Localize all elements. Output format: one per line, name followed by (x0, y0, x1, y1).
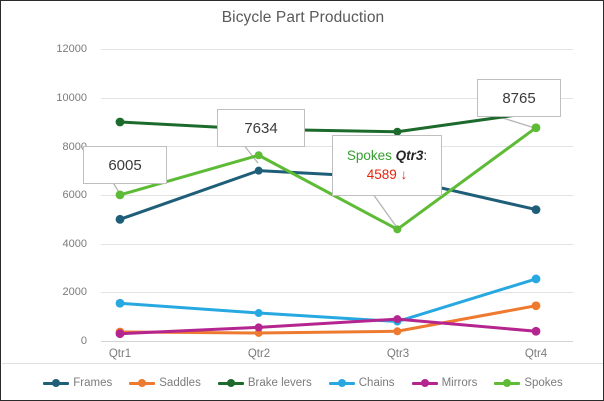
callout-value: 7634 (244, 120, 277, 137)
callout-series-name: Spokes (347, 148, 392, 163)
legend-swatch-icon (329, 378, 355, 389)
legend-swatch-icon (494, 378, 520, 389)
x-axis-tick-qtr2: Qtr2 (214, 349, 304, 361)
legend-divider (2, 363, 604, 364)
legend-item-saddles[interactable]: Saddles (129, 377, 201, 389)
y-axis-tick-0: 0 (29, 336, 87, 347)
legend-item-spokes[interactable]: Spokes (494, 377, 562, 389)
x-axis-tick-qtr3: Qtr3 (353, 349, 443, 361)
y-axis-tick-12000: 12000 (29, 44, 87, 55)
callout-spokes-qtr3[interactable]: Spokes Qtr3: 4589 ↓ (332, 135, 442, 196)
y-axis-tick-10000: 10000 (29, 93, 87, 104)
legend-label: Brake levers (248, 377, 312, 389)
legend-label: Frames (73, 377, 112, 389)
callout-value: 8765 (502, 90, 535, 107)
y-axis-tick-6000: 6000 (29, 190, 87, 201)
chart-window: Bicycle Part Production 12000 10000 8000… (0, 0, 604, 401)
callout-colon: : (423, 148, 427, 163)
page-title: Bicycle Part Production (1, 9, 604, 27)
x-axis-line (101, 341, 573, 342)
legend-swatch-icon (412, 378, 438, 389)
legend-label: Chains (359, 377, 395, 389)
legend-item-chains[interactable]: Chains (329, 377, 395, 389)
legend-item-brake-levers[interactable]: Brake levers (218, 377, 312, 389)
callout-value: 4589 ↓ (367, 166, 408, 184)
gridline-12000 (101, 49, 573, 50)
legend-label: Saddles (159, 377, 201, 389)
legend-swatch-icon (43, 378, 69, 389)
callout-category-name: Qtr3 (396, 148, 424, 163)
callout-value: 6005 (108, 157, 141, 174)
legend: FramesSaddlesBrake leversChainsMirrorsSp… (1, 371, 604, 395)
callout-spokes-qtr1[interactable]: 6005 (83, 146, 167, 184)
gridline-4000 (101, 244, 573, 245)
callout-title-line: Spokes Qtr3: (347, 147, 427, 165)
y-axis-tick-8000: 8000 (29, 142, 87, 153)
callout-spokes-qtr2[interactable]: 7634 (217, 109, 305, 147)
legend-item-frames[interactable]: Frames (43, 377, 112, 389)
x-axis-tick-qtr1: Qtr1 (75, 349, 165, 361)
legend-swatch-icon (129, 378, 155, 389)
y-axis-tick-4000: 4000 (29, 239, 87, 250)
legend-label: Mirrors (442, 377, 478, 389)
legend-swatch-icon (218, 378, 244, 389)
legend-item-mirrors[interactable]: Mirrors (412, 377, 478, 389)
legend-label: Spokes (524, 377, 562, 389)
gridline-2000 (101, 292, 573, 293)
x-axis-tick-qtr4: Qtr4 (491, 349, 581, 361)
callout-spokes-qtr4[interactable]: 8765 (477, 79, 561, 117)
y-axis-tick-2000: 2000 (29, 287, 87, 298)
